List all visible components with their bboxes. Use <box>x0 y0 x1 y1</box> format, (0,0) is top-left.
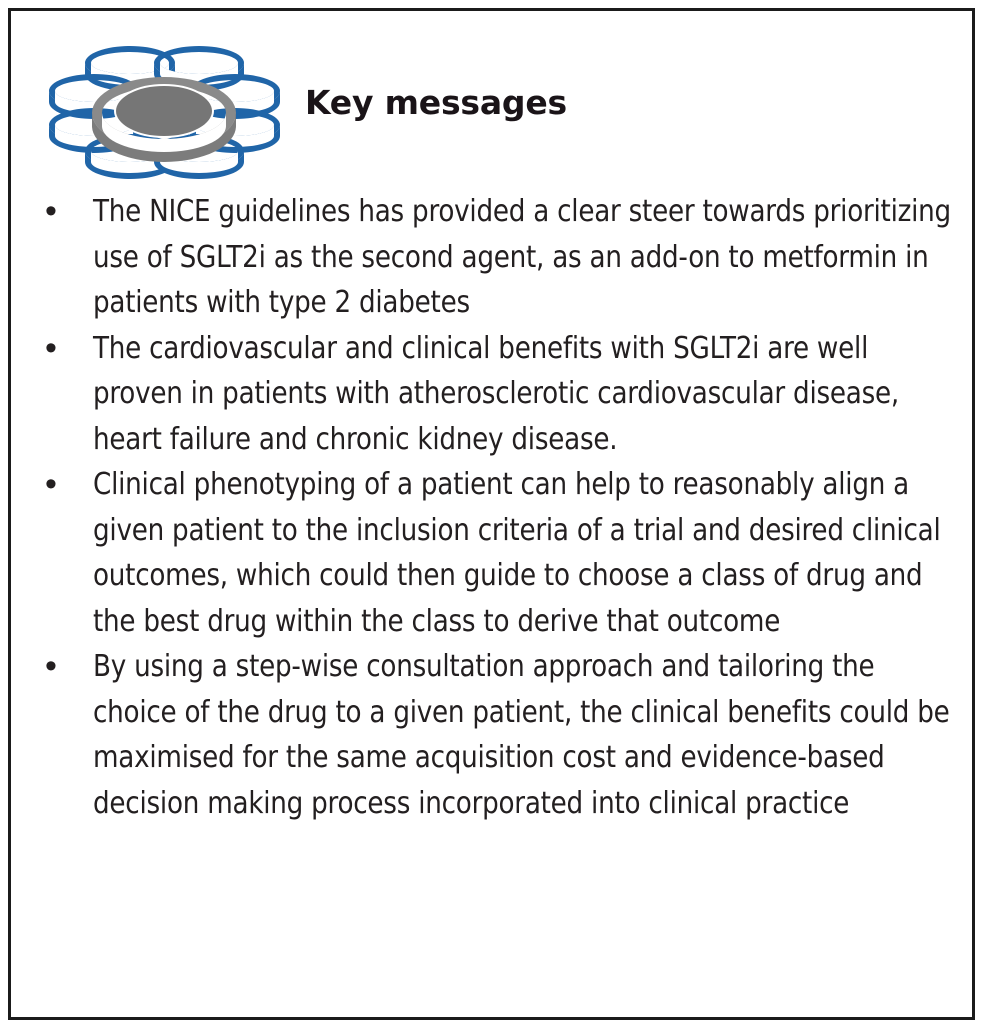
petal-rings-logo-icon <box>42 33 287 183</box>
list-item: • The NICE guidelines has provided a cle… <box>11 189 972 326</box>
bullet-icon: • <box>45 189 67 235</box>
list-item: • Clinical phenotyping of a patient can … <box>11 462 972 644</box>
key-messages-panel: Key messages • The NICE guidelines has p… <box>8 8 975 1020</box>
list-item: • By using a step-wise consultation appr… <box>11 644 972 826</box>
bullet-icon: • <box>45 326 67 372</box>
bullet-icon: • <box>45 462 67 508</box>
list-item-text: By using a step-wise consultation approa… <box>93 644 954 826</box>
list-item-text: The cardiovascular and clinical benefits… <box>93 326 954 463</box>
list-item-text: Clinical phenotyping of a patient can he… <box>93 462 954 644</box>
panel-header: Key messages <box>11 11 972 179</box>
list-item: • The cardiovascular and clinical benefi… <box>11 326 972 463</box>
bullet-icon: • <box>45 644 67 690</box>
page-title: Key messages <box>305 83 567 123</box>
list-item-text: The NICE guidelines has provided a clear… <box>93 189 954 326</box>
key-messages-list: • The NICE guidelines has provided a cle… <box>11 189 972 826</box>
